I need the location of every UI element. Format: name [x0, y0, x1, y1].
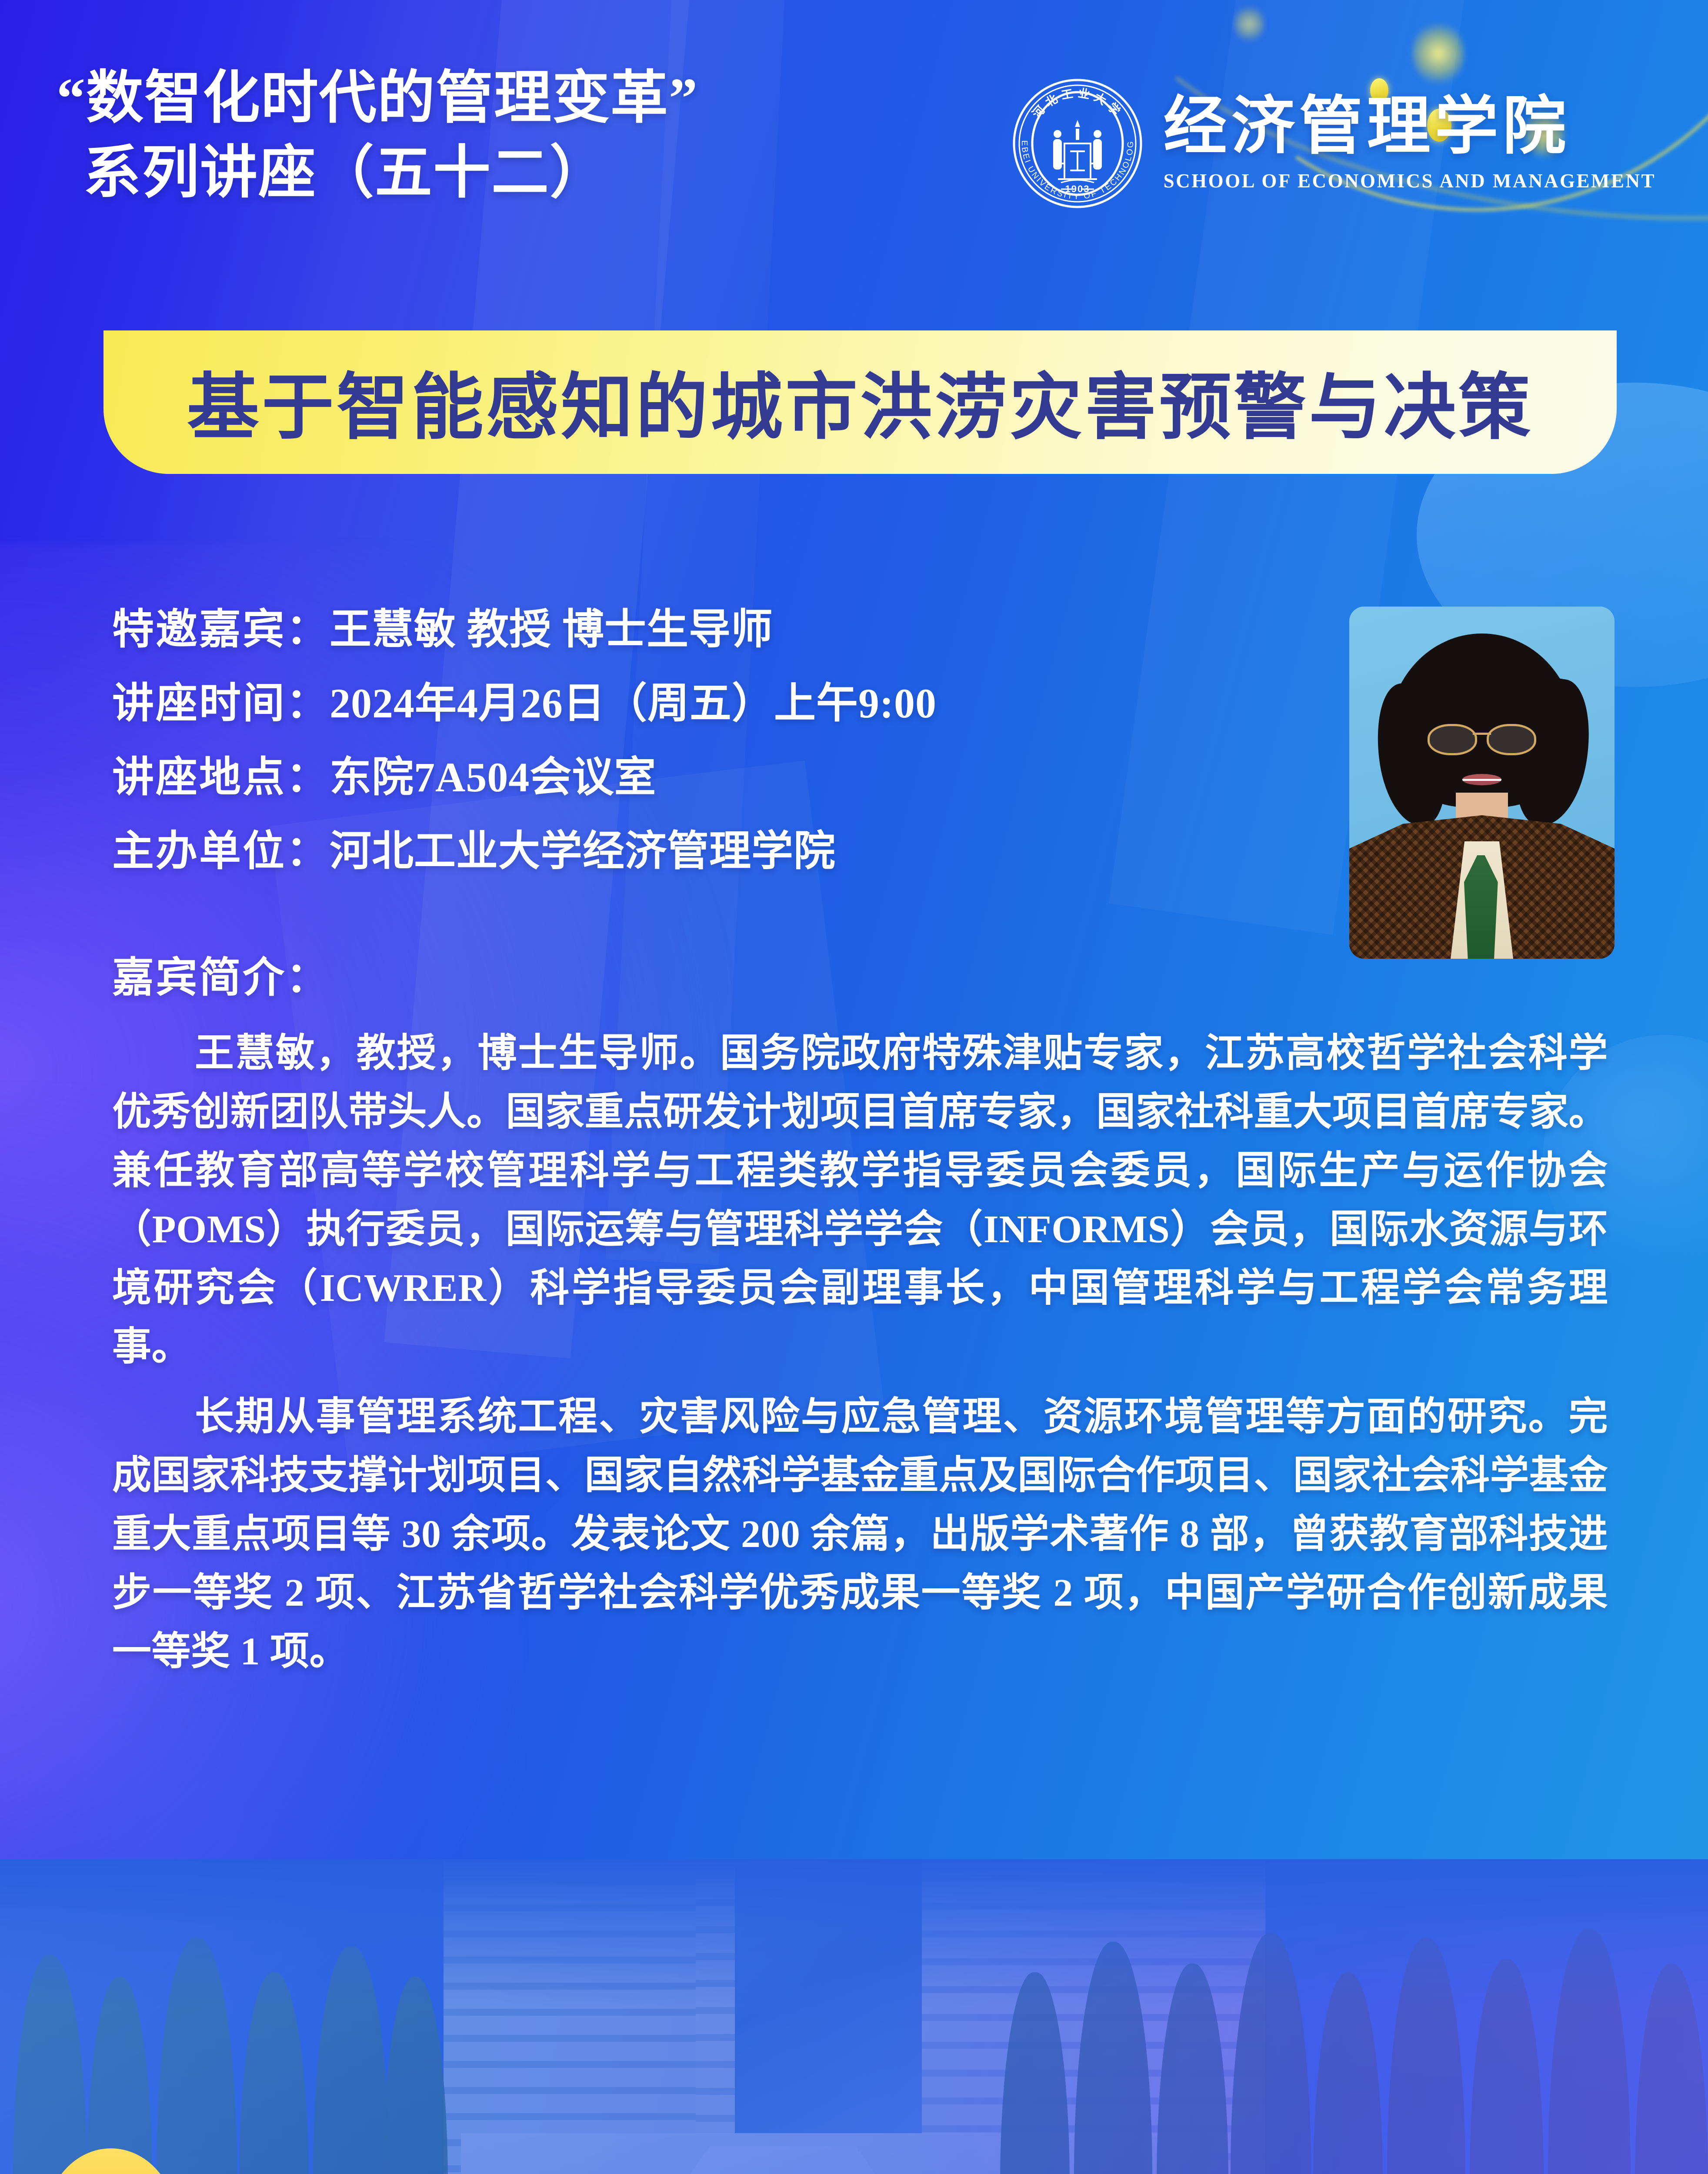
bio-paragraph-1: 王慧敏，教授，博士生导师。国务院政府特殊津贴专家，江苏高校哲学社会科学优秀创新团… [112, 1024, 1608, 1376]
host-value: 河北工业大学经济管理学院 [330, 828, 836, 874]
lecture-info-block: 特邀嘉宾：王慧敏 教授 博士生导师 讲座时间：2024年4月26日（周五）上午9… [112, 609, 1286, 904]
speaker-portrait [1349, 607, 1615, 959]
time-value: 2024年4月26日（周五）上午9:00 [330, 680, 937, 727]
guest-value: 王慧敏 教授 博士生导师 [330, 606, 773, 653]
school-logo: 河北工业大学 HEBEI UNIVERSITY OF TECHNOLOGY [1012, 78, 1656, 209]
photo-top-fade [0, 1859, 1708, 2007]
lecture-title-banner: 基于智能感知的城市洪涝灾害预警与决策 [103, 330, 1617, 474]
poster-header: “数智化时代的管理变革” 系列讲座（五十二） 河北工业大学 [0, 0, 1708, 278]
school-name-block: 经济管理学院 SCHOOL OF ECONOMICS AND MANAGEMEN… [1164, 95, 1656, 192]
lecture-title: 基于智能感知的城市洪涝灾害预警与决策 [187, 348, 1533, 453]
portrait-mouth [1462, 774, 1501, 785]
host-label: 主办单位： [112, 828, 330, 874]
guest-label: 特邀嘉宾： [112, 606, 330, 653]
portrait-glasses [1428, 724, 1536, 751]
info-row-time: 讲座时间：2024年4月26日（周五）上午9:00 [112, 683, 1286, 724]
series-title-line1: “数智化时代的管理变革” [57, 66, 698, 130]
time-label: 讲座时间： [112, 680, 330, 727]
info-row-host: 主办单位：河北工业大学经济管理学院 [112, 830, 1286, 872]
info-row-guest: 特邀嘉宾：王慧敏 教授 博士生导师 [112, 609, 1286, 650]
info-row-place: 讲座地点：东院7A504会议室 [112, 757, 1286, 798]
poster-root: “数智化时代的管理变革” 系列讲座（五十二） 河北工业大学 [0, 0, 1708, 2174]
school-name-en: SCHOOL OF ECONOMICS AND MANAGEMENT [1164, 170, 1656, 192]
place-label: 讲座地点： [112, 754, 330, 800]
series-title: “数智化时代的管理变革” 系列讲座（五十二） [57, 61, 883, 210]
campus-photo [0, 1859, 1708, 2174]
bio-paragraph-2: 长期从事管理系统工程、灾害风险与应急管理、资源环境管理等方面的研究。完成国家科技… [112, 1387, 1608, 1681]
university-seal-icon: 河北工业大学 HEBEI UNIVERSITY OF TECHNOLOGY [1012, 78, 1143, 209]
place-value: 东院7A504会议室 [330, 754, 656, 800]
bio-heading: 嘉宾简介： [112, 944, 330, 1004]
school-name-cn: 经济管理学院 [1164, 95, 1656, 158]
bio-body: 王慧敏，教授，博士生导师。国务院政府特殊津贴专家，江苏高校哲学社会科学优秀创新团… [112, 1024, 1608, 1692]
series-title-line2: 系列讲座（五十二） [57, 136, 883, 210]
